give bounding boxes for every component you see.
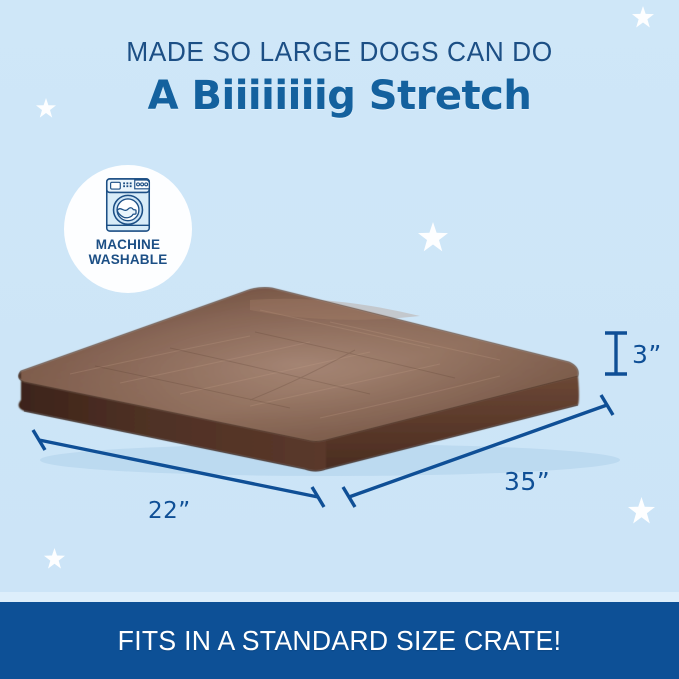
dimension-label-width: 22” [148,498,191,524]
headline-block: MADE SO LARGE DOGS CAN DO A Biiiiiiiig S… [0,36,679,120]
page-title: A Biiiiiiiig Stretch [0,72,679,120]
bottom-banner-text: FITS IN A STANDARD SIZE CRATE! [118,625,562,657]
bottom-banner: FITS IN A STANDARD SIZE CRATE! [0,602,679,679]
dimension-label-height: 3” [632,340,662,369]
dimension-label-length: 35” [504,467,550,496]
product-infographic: MADE SO LARGE DOGS CAN DO A Biiiiiiiig S… [0,0,679,679]
headline-kicker: MADE SO LARGE DOGS CAN DO [20,36,658,68]
washing-machine-icon [102,177,154,233]
dog-bed-product-image [0,270,679,500]
badge-label-line2: WASHABLE [89,252,168,267]
badge-label-line1: MACHINE [96,237,160,252]
machine-washable-label: MACHINE WASHABLE [89,237,168,267]
banner-top-accent-strip [0,592,679,602]
